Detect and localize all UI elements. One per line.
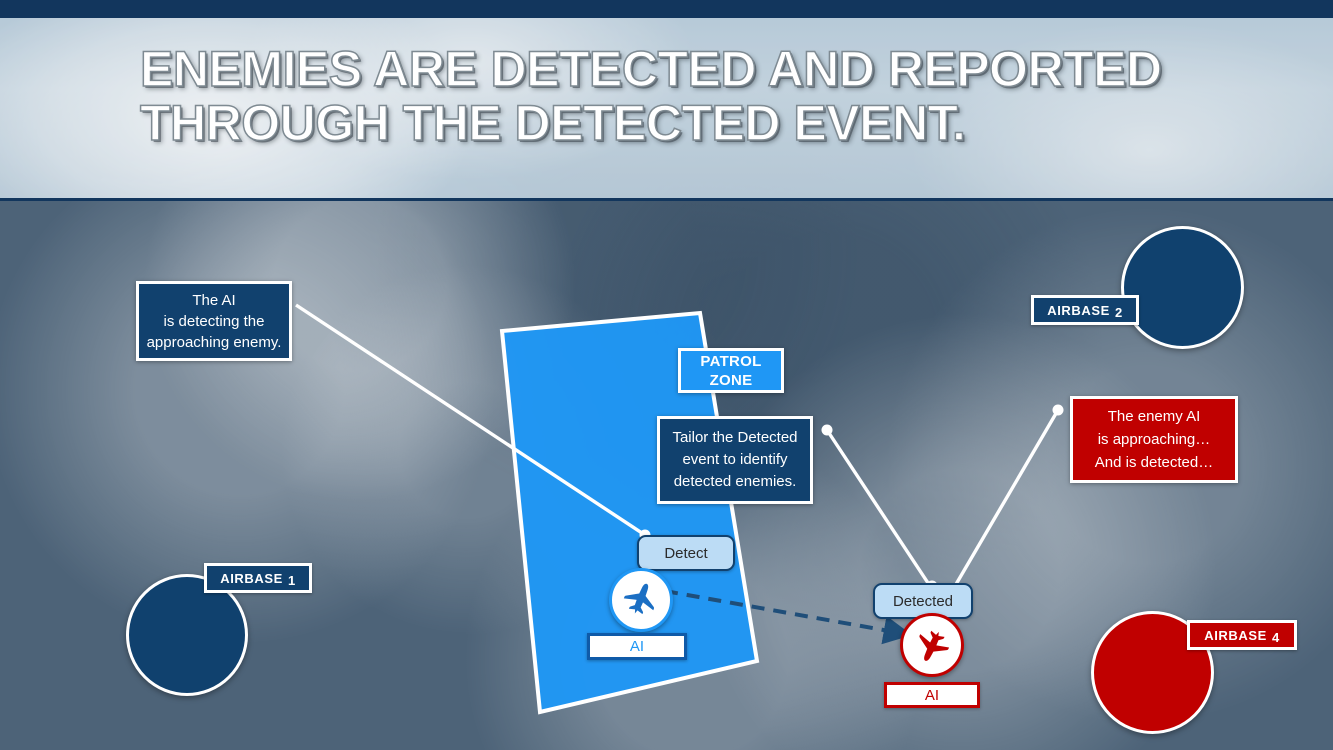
airbase-4-label[interactable]: AIRBASE 4 xyxy=(1187,620,1297,650)
top-accent-bar xyxy=(0,0,1333,18)
airbase-2-marker[interactable] xyxy=(1121,226,1244,349)
airbase-1-label[interactable]: AIRBASE 1 xyxy=(204,563,312,593)
enemy-ai-marker[interactable] xyxy=(900,613,964,677)
node-detect[interactable]: Detect xyxy=(637,535,735,571)
airbase-1-number: 1 xyxy=(288,573,296,588)
airbase-2-name: AIRBASE xyxy=(1047,303,1110,318)
airbase-4-name: AIRBASE xyxy=(1204,628,1267,643)
airbase-2-label[interactable]: AIRBASE 2 xyxy=(1031,295,1139,325)
callout-enemy-approaching[interactable]: The enemy AI is approaching… And is dete… xyxy=(1070,396,1238,483)
slide-canvas: ENEMIES ARE DETECTED AND REPORTED THROUG… xyxy=(0,0,1333,750)
airbase-4-number: 4 xyxy=(1272,630,1280,645)
friendly-ai-marker[interactable] xyxy=(609,568,673,632)
callout-ai-detecting[interactable]: The AI is detecting the approaching enem… xyxy=(136,281,292,361)
slide-title: ENEMIES ARE DETECTED AND REPORTED THROUG… xyxy=(140,42,1260,150)
airbase-2-number: 2 xyxy=(1115,305,1123,320)
fighter-jet-icon xyxy=(620,579,662,621)
callout-tailor-detected-event[interactable]: Tailor the Detected event to identify de… xyxy=(657,416,813,504)
enemy-ai-label[interactable]: AI xyxy=(884,682,980,708)
patrol-zone-label[interactable]: PATROL ZONE xyxy=(678,348,784,393)
airbase-1-name: AIRBASE xyxy=(220,571,283,586)
friendly-ai-label[interactable]: AI xyxy=(587,633,687,660)
fighter-jet-icon xyxy=(911,624,953,666)
